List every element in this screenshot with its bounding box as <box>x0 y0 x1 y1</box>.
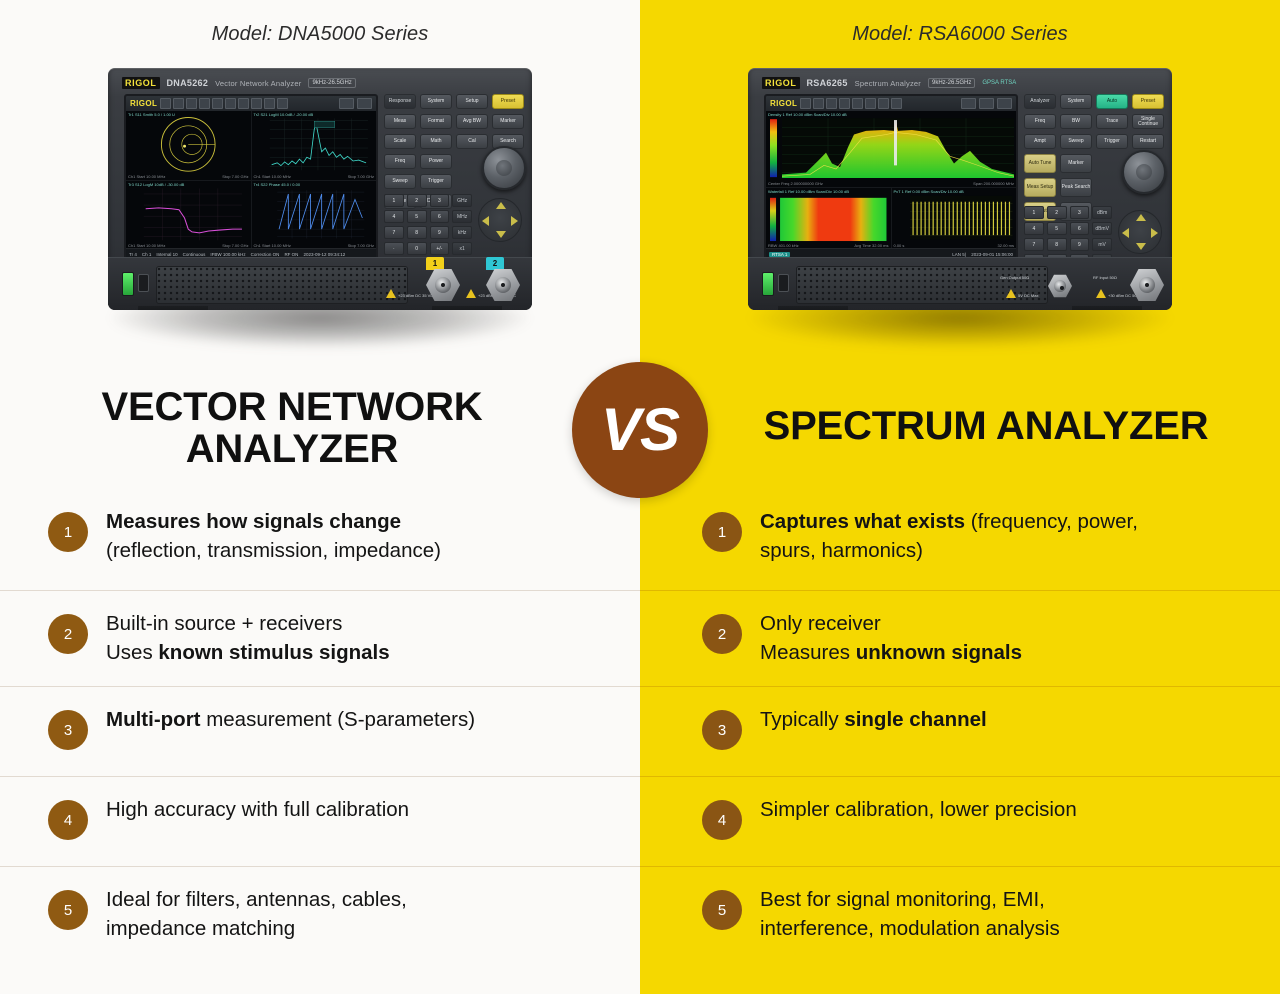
port-warning-label: 5V DC Max <box>1018 293 1038 298</box>
list-item-line1: Only receiver <box>760 612 881 635</box>
list-item-bold: unknown signals <box>856 641 1022 664</box>
key-row-autotune: Auto Tune Marker <box>1024 154 1090 173</box>
open-icon[interactable] <box>173 98 184 109</box>
print-icon[interactable] <box>186 98 197 109</box>
list-item-text: Multi-port measurement (S-parameters) <box>106 701 475 734</box>
ventilation-grille <box>796 266 1048 304</box>
pane-insertion-loss[interactable]: Tr3 S12 LogM 10dB / -30.00 dB Ch1 Start … <box>126 181 251 250</box>
list-item-text: High accuracy with full calibration <box>106 791 409 824</box>
numpad-unit-key[interactable]: dBmV <box>1092 222 1112 235</box>
pane-header: Waterfall 1 Ref 10.00 dBm Scan/Div 10.00… <box>768 189 849 194</box>
sweep-mode-icon[interactable] <box>826 98 837 109</box>
numpad-key[interactable]: 1 <box>384 194 404 207</box>
trigger-icon[interactable] <box>865 98 876 109</box>
key-format[interactable]: Format <box>420 114 452 129</box>
mode-badge: GPSA RTSA <box>982 80 1016 86</box>
numpad-key[interactable]: 9 <box>1070 238 1090 251</box>
list-item: 4 High accuracy with full calibration <box>0 776 640 866</box>
list-item-rest: measurement (S-parameters) <box>201 708 476 731</box>
list-item-number: 5 <box>48 890 88 930</box>
atten-setting-icon[interactable] <box>813 98 824 109</box>
frequency-range-badge: 9kHz-26.5GHz <box>928 78 975 88</box>
numpad-unit-key[interactable]: mV <box>1092 238 1112 251</box>
key-row-analyzer: Analyzer System Auto Preset <box>1024 94 1162 109</box>
warning-icon <box>466 289 476 298</box>
list-item-bold: Measures how signals change <box>106 510 401 533</box>
instrument-screen[interactable]: RIGOL <box>764 94 1018 262</box>
list-item-text: Only receiver Measures unknown signals <box>760 605 1022 667</box>
brand-logo: RIGOL <box>122 77 160 89</box>
pane-header: PvT 1 Ref 0.00 dBm Scan/Div 10.00 dB <box>894 189 964 194</box>
trace-icon[interactable] <box>212 98 223 109</box>
arrow-up-icon[interactable] <box>496 202 506 209</box>
list-item-number: 2 <box>702 614 742 654</box>
numpad-key[interactable]: 3 <box>1070 206 1090 219</box>
freq-setting-icon[interactable] <box>800 98 811 109</box>
screenshot-icon[interactable] <box>961 98 976 109</box>
rotary-knob[interactable] <box>1122 150 1166 194</box>
connector-center <box>495 277 511 293</box>
vs-badge: VS <box>572 362 708 498</box>
list-item-line2: (reflection, transmission, impedance) <box>106 539 441 562</box>
numpad-key[interactable]: 4 <box>384 210 404 223</box>
list-item-line2: impedance matching <box>106 917 295 940</box>
numpad-unit-key[interactable]: x1 <box>452 242 472 255</box>
arrow-up-icon[interactable] <box>1136 214 1146 221</box>
list-item-bold: single channel <box>844 708 986 731</box>
numpad-key[interactable]: 1 <box>1024 206 1044 219</box>
numpad-key[interactable]: 5 <box>1047 222 1067 235</box>
list-item-bold: known stimulus signals <box>158 641 389 664</box>
numpad-unit-key[interactable]: kHz <box>452 226 472 239</box>
key-trigger[interactable]: Trigger <box>1096 134 1128 149</box>
usb-port <box>778 274 789 292</box>
key-restart[interactable]: Restart <box>1132 134 1164 149</box>
camera-icon[interactable] <box>277 98 288 109</box>
instrument-type-label: Spectrum Analyzer <box>855 79 921 88</box>
numpad-key[interactable]: 7 <box>384 226 404 239</box>
screen-toolbar: RIGOL <box>766 96 1016 112</box>
key-meas-setup[interactable]: Meas Setup <box>1024 178 1056 197</box>
power-vs-time-graphic <box>892 188 1017 249</box>
connector-center <box>1054 280 1066 292</box>
chassis-brand-row: RIGOL RSA6265 Spectrum Analyzer 9kHz-26.… <box>762 75 1022 91</box>
pane-density[interactable]: Density 1 Ref 10.00 dBm Scan/Div 10.00 d… <box>766 111 1016 187</box>
marker-icon[interactable] <box>891 98 902 109</box>
list-item-text: Captures what exists (frequency, power, … <box>760 503 1138 565</box>
right-panel-title: SPECTRUM ANALYZER <box>726 405 1246 447</box>
usb-port <box>138 274 149 292</box>
warning-icon <box>1096 289 1106 298</box>
numpad-key[interactable]: 5 <box>407 210 427 223</box>
pane-header: Density 1 Ref 10.00 dBm Scan/Div 10.00 d… <box>768 112 847 117</box>
numpad-key[interactable]: +/- <box>430 242 450 255</box>
numpad-unit-key[interactable]: GHz <box>452 194 472 207</box>
arrow-down-icon[interactable] <box>496 231 506 238</box>
warning-icon <box>386 289 396 298</box>
key-auto-tune[interactable]: Auto Tune <box>1024 154 1056 173</box>
comparison-infographic: Model: DNA5000 Series RIGOL DNA5262 Vect… <box>0 0 1280 994</box>
list-item-line1: Best for signal monitoring, EMI, <box>760 888 1045 911</box>
left-feature-list: 1 Measures how signals change (reflectio… <box>0 488 640 970</box>
port-2[interactable]: 2 <box>486 268 520 302</box>
key-row-freq: Freq BW Trace Single Continue <box>1024 114 1162 129</box>
pane-footer: Ch1 Start 10.00 MHz <box>128 174 165 179</box>
numpad-unit-key[interactable]: dBm <box>1092 206 1112 219</box>
magenta-trace-graphic <box>126 181 251 250</box>
list-item: 2 Built-in source + receivers Uses known… <box>0 590 640 686</box>
key-marker[interactable]: Marker <box>492 114 524 129</box>
warning-icon <box>1006 289 1016 298</box>
pane-header: Tr2 S21 LogM 10.0dB / -20.00 dB <box>254 112 314 117</box>
instrument-screen[interactable]: RIGOL <box>124 94 378 262</box>
list-item-number: 5 <box>702 890 742 930</box>
key-response[interactable]: Response <box>384 94 416 109</box>
list-item-text: Best for signal monitoring, EMI, interfe… <box>760 881 1060 943</box>
key-trigger[interactable]: Trigger <box>420 174 452 189</box>
list-item: 3 Multi-port measurement (S-parameters) <box>0 686 640 776</box>
key-power[interactable]: Power <box>420 154 452 169</box>
direction-pad[interactable] <box>478 198 522 242</box>
instrument-chassis: RIGOL DNA5262 Vector Network Analyzer 9k… <box>108 68 532 310</box>
list-item-prefix: Typically <box>760 708 844 731</box>
list-item: 2 Only receiver Measures unknown signals <box>640 590 1280 686</box>
spectrum-trace-graphic <box>252 111 377 180</box>
list-item-text: Typically single channel <box>760 701 987 734</box>
numpad-unit-key[interactable]: MHz <box>452 210 472 223</box>
key-row-ampt: Ampt Sweep Trigger Restart <box>1024 134 1162 149</box>
screen-brand-logo: RIGOL <box>770 99 797 108</box>
list-item: 4 Simpler calibration, lower precision <box>640 776 1280 866</box>
vs-label: VS <box>601 400 679 460</box>
list-item-line2: interference, modulation analysis <box>760 917 1060 940</box>
trace-setting-icon[interactable] <box>839 98 850 109</box>
list-item: 3 Typically single channel <box>640 686 1280 776</box>
numpad-key[interactable]: 8 <box>407 226 427 239</box>
trace-panes: Tr1 S11 Smith 5.0 / 1.00 U Ch1 Start 10.… <box>126 111 376 249</box>
key-meas[interactable]: Meas <box>384 114 416 129</box>
pane-header: Tr3 S12 LogM 10dB / -30.00 dB <box>128 182 184 187</box>
list-item-number: 4 <box>48 800 88 840</box>
screen-toolbar-icons[interactable] <box>800 98 958 109</box>
list-item-number: 3 <box>702 710 742 750</box>
screen-brand-logo: RIGOL <box>130 99 157 108</box>
autoscale-icon[interactable] <box>264 98 275 109</box>
frequency-range-badge: 9kHz-26.5GHz <box>308 78 355 88</box>
connector-center <box>1139 277 1155 293</box>
list-item-line2-prefix: Measures <box>760 641 856 664</box>
list-item-text: Ideal for filters, antennas, cables, imp… <box>106 881 407 943</box>
right-model-caption: Model: RSA6000 Series <box>640 23 1280 46</box>
port-2-label: 2 <box>486 257 504 270</box>
list-item: 1 Measures how signals change (reflectio… <box>0 488 640 590</box>
list-item-text: Built-in source + receivers Uses known s… <box>106 605 390 667</box>
chassis-bottom-strip: Gen Output 50Ω 5V DC Max RF Input 50Ω +3… <box>748 257 1172 310</box>
numpad-key[interactable]: 2 <box>407 194 427 207</box>
model-number: RSA6265 <box>807 78 848 88</box>
pane-footer: Ch1 Start 10.00 MHz <box>254 174 291 179</box>
numpad-key[interactable]: 8 <box>1047 238 1067 251</box>
key-cal[interactable]: Cal <box>456 134 488 149</box>
vector-network-analyzer-photo: RIGOL DNA5262 Vector Network Analyzer 9k… <box>100 60 540 330</box>
list-item-text: Simpler calibration, lower precision <box>760 791 1077 824</box>
list-item-line2: spurs, harmonics) <box>760 539 923 562</box>
pane-phase[interactable]: Tr4 S22 Phase 45.0 / 0.00 Ch1 Start 10.0… <box>252 181 377 250</box>
arrow-left-icon[interactable] <box>482 216 489 226</box>
pane-log-magnitude[interactable]: Tr2 S21 LogM 10.0dB / -20.00 dB Ch1 Star… <box>252 111 377 180</box>
rotary-knob[interactable] <box>482 146 526 190</box>
key-system[interactable]: System <box>1060 94 1092 109</box>
key-sweep[interactable]: Sweep <box>1060 134 1092 149</box>
connector-center <box>435 277 451 293</box>
chassis-foot-left <box>778 306 848 310</box>
list-item-text: Measures how signals change (reflection,… <box>106 503 441 565</box>
key-trace[interactable]: Trace <box>1096 114 1128 129</box>
pc-link-icon[interactable] <box>979 98 994 109</box>
key-row-response: Response System Setup Preset <box>384 94 522 109</box>
pane-power-vs-time[interactable]: PvT 1 Ref 0.00 dBm Scan/Div 10.00 dB 0.0… <box>892 188 1017 249</box>
brand-logo: RIGOL <box>762 77 800 89</box>
arrow-left-icon[interactable] <box>1122 228 1129 238</box>
pane-footer-right: Stop 7.00 GHz <box>222 174 248 179</box>
pane-footer: Center Freq 2.000000000 GHz <box>768 181 823 186</box>
marker-icon[interactable] <box>225 98 236 109</box>
ventilation-grille <box>156 266 408 304</box>
list-item: 5 Ideal for filters, antennas, cables, i… <box>0 866 640 970</box>
key-sweep[interactable]: Sweep <box>384 174 416 189</box>
save-icon[interactable] <box>160 98 171 109</box>
port-1-label: 1 <box>426 257 444 270</box>
list-item-rest: (frequency, power, <box>965 510 1138 533</box>
pane-footer-right: Stop 7.00 GHz <box>348 174 374 179</box>
list-item-number: 4 <box>702 800 742 840</box>
right-feature-list: 1 Captures what exists (frequency, power… <box>640 488 1280 970</box>
key-auto[interactable]: Auto <box>1096 94 1128 109</box>
key-freq[interactable]: Freq <box>1024 114 1056 129</box>
key-preset[interactable]: Preset <box>1132 94 1164 109</box>
direction-pad[interactable] <box>1118 210 1162 254</box>
key-marker[interactable]: Marker <box>1060 154 1092 173</box>
key-ampt[interactable]: Ampt <box>1024 134 1056 149</box>
pane-header: Tr1 S11 Smith 5.0 / 1.00 U <box>128 112 175 117</box>
key-scale[interactable]: Scale <box>384 134 416 149</box>
port-1[interactable]: 1 <box>426 268 460 302</box>
list-item-number: 1 <box>702 512 742 552</box>
chassis-foot-right <box>432 306 502 310</box>
numpad-key[interactable]: 7 <box>1024 238 1044 251</box>
chassis-foot-left <box>138 306 208 310</box>
list-item-number: 2 <box>48 614 88 654</box>
left-panel-title: VECTOR NETWORK ANALYZER <box>28 386 556 471</box>
key-row-meassetup: Meas Setup Peak Search <box>1024 178 1090 197</box>
spectrum-analyzer-photo: RIGOL RSA6265 Spectrum Analyzer 9kHz-26.… <box>740 60 1180 330</box>
numpad-key[interactable]: · <box>384 242 404 255</box>
list-item: 1 Captures what exists (frequency, power… <box>640 488 1280 590</box>
screen-toolbar-icons[interactable] <box>160 98 336 109</box>
phase-sawtooth-graphic <box>252 181 377 250</box>
pane-footer-right: Span 200.000000 MHz <box>973 181 1014 186</box>
rf-input-label: RF Input 50Ω <box>1093 275 1117 280</box>
arrow-right-icon[interactable] <box>511 216 518 226</box>
calibrate-icon[interactable] <box>238 98 249 109</box>
camera-icon[interactable] <box>997 98 1012 109</box>
key-bw[interactable]: BW <box>1060 114 1092 129</box>
key-single-continue[interactable]: Single Continue <box>1132 114 1164 129</box>
key-setup[interactable]: Setup <box>456 94 488 109</box>
power-button[interactable] <box>122 272 134 296</box>
key-row-freq: Freq Power <box>384 154 450 169</box>
pane-waterfall[interactable]: Waterfall 1 Ref 10.00 dBm Scan/Div 10.00… <box>766 188 891 249</box>
numpad-key[interactable]: 2 <box>1047 206 1067 219</box>
rf-input-port[interactable] <box>1130 268 1164 302</box>
list-item-line1: Ideal for filters, antennas, cables, <box>106 888 407 911</box>
limit-icon[interactable] <box>251 98 262 109</box>
instrument-type-label: Vector Network Analyzer <box>215 79 301 88</box>
key-avg-bw[interactable]: Avg BW <box>456 114 488 129</box>
trace-panes: Density 1 Ref 10.00 dBm Scan/Div 10.00 d… <box>766 111 1016 249</box>
detector-icon[interactable] <box>852 98 863 109</box>
list-item-line1: Built-in source + receivers <box>106 612 342 635</box>
numpad-key[interactable]: 6 <box>1070 222 1090 235</box>
left-model-caption: Model: DNA5000 Series <box>0 23 640 46</box>
numpad-key[interactable]: 9 <box>430 226 450 239</box>
key-preset[interactable]: Preset <box>492 94 524 109</box>
key-row-sweep: Sweep Trigger <box>384 174 450 189</box>
key-peak-search[interactable]: Peak Search <box>1060 178 1092 197</box>
gen-output-port[interactable] <box>1048 274 1072 298</box>
list-item-bold: Captures what exists <box>760 510 965 533</box>
waterfall-graphic <box>766 188 891 249</box>
power-button[interactable] <box>762 272 774 296</box>
density-spectrogram-graphic <box>766 111 1016 187</box>
arrow-right-icon[interactable] <box>1151 228 1158 238</box>
list-item-number: 3 <box>48 710 88 750</box>
arrow-down-icon[interactable] <box>1136 243 1146 250</box>
key-row-meas: Meas Format Avg BW Marker <box>384 114 522 129</box>
key-math[interactable]: Math <box>420 134 452 149</box>
list-item-line2-prefix: Uses <box>106 641 158 664</box>
screen-toolbar: RIGOL <box>126 96 376 112</box>
numpad-key[interactable]: 0 <box>407 242 427 255</box>
pane-smith-chart[interactable]: Tr1 S11 Smith 5.0 / 1.00 U Ch1 Start 10.… <box>126 111 251 180</box>
help-icon[interactable] <box>357 98 372 109</box>
chassis-brand-row: RIGOL DNA5262 Vector Network Analyzer 9k… <box>122 75 382 91</box>
grid-icon[interactable] <box>199 98 210 109</box>
list-item-bold: Multi-port <box>106 708 201 731</box>
key-analyzer[interactable]: Analyzer <box>1024 94 1056 109</box>
list-item: 5 Best for signal monitoring, EMI, inter… <box>640 866 1280 970</box>
key-system[interactable]: System <box>420 94 452 109</box>
numpad-key[interactable]: 4 <box>1024 222 1044 235</box>
numpad-key[interactable]: 6 <box>430 210 450 223</box>
gen-output-label: Gen Output 50Ω <box>1000 275 1029 280</box>
avg-icon[interactable] <box>878 98 889 109</box>
key-freq[interactable]: Freq <box>384 154 416 169</box>
pc-link-icon[interactable] <box>339 98 354 109</box>
chassis-foot-right <box>1072 306 1142 310</box>
smith-chart-graphic <box>126 111 251 180</box>
model-number: DNA5262 <box>167 78 209 88</box>
chassis-bottom-strip: +23 dBm DC 35 VDC 1 +23 dBm DC 35 VDC 2 <box>108 257 532 310</box>
pane-header: Tr4 S22 Phase 45.0 / 0.00 <box>254 182 301 187</box>
list-item-number: 1 <box>48 512 88 552</box>
numpad-key[interactable]: 3 <box>430 194 450 207</box>
instrument-chassis: RIGOL RSA6265 Spectrum Analyzer 9kHz-26.… <box>748 68 1172 310</box>
